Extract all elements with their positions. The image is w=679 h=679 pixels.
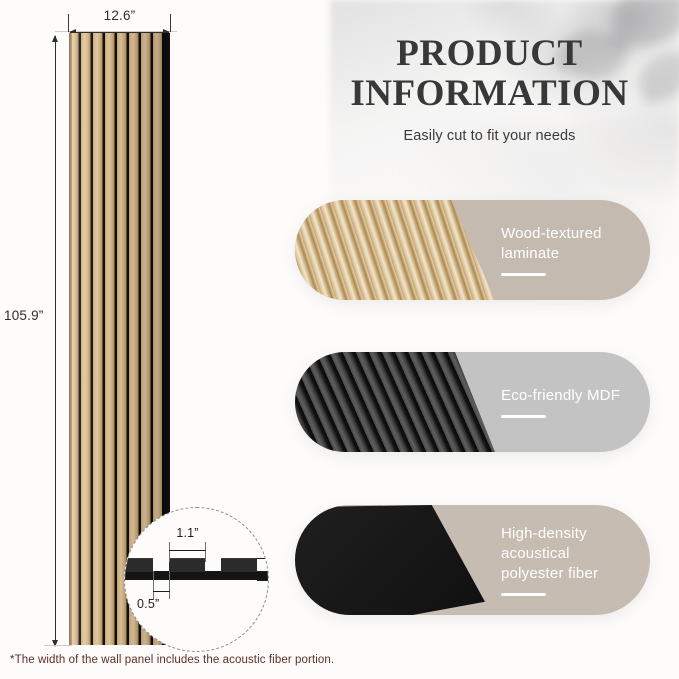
height-dimension-label: 105.9” (4, 308, 43, 323)
footnote-text: *The width of the wall panel includes th… (10, 654, 334, 666)
feature-label-line-2: laminate (501, 244, 650, 264)
cross-section-detail-circle: 1.1” 0.5” 0.5” 0.3” (124, 507, 269, 652)
product-information-infographic: 12.6” 105.9” 1.1” (0, 0, 679, 679)
width-dimension-label: 12.6” (68, 8, 171, 23)
feature-underline-rule (501, 593, 546, 596)
wood-texture-swatch (295, 200, 495, 300)
cross-section-drawing: 1.1” 0.5” 0.5” 0.3” (125, 508, 268, 651)
feature-label-line-1: Eco-friendly MDF (501, 386, 650, 406)
backing-depth-line-bottom (257, 580, 268, 581)
slat-depth-line-top (257, 558, 268, 559)
feature-label-line-1: Wood-textured (501, 224, 650, 244)
bottom-extension-rule (44, 645, 72, 646)
feature-underline-rule (501, 415, 546, 418)
slat-width-tick-right (205, 542, 206, 562)
feature-text-block: High-density acoustical polyester fiber (495, 505, 650, 615)
slat-width-label: 1.1” (169, 526, 206, 540)
cross-section-slat-1 (125, 558, 153, 572)
panel-technical-drawing: 12.6” 105.9” 1.1” (0, 0, 300, 679)
slat-width-line (169, 550, 206, 551)
cross-section-backing (125, 571, 268, 580)
feature-label-line-3: polyester fiber (501, 564, 650, 584)
slat-width-tick-left (169, 542, 170, 562)
feature-capsule-high-density-acoustical-polyester-fiber: High-density acoustical polyester fiber (295, 505, 650, 615)
feature-text-block: Wood-textured laminate (495, 200, 650, 300)
feature-underline-rule (501, 273, 546, 276)
feature-capsule-wood-textured-laminate: Wood-textured laminate (295, 200, 650, 300)
feature-capsule-eco-friendly-mdf: Eco-friendly MDF (295, 352, 650, 452)
panel-left-rail (69, 33, 72, 645)
gap-width-tick-left (153, 571, 154, 599)
feature-label-line-2: acoustical (501, 544, 650, 564)
feature-label-line-1: High-density (501, 524, 650, 544)
gap-width-label: 0.5” (137, 597, 159, 611)
page-subtitle: Easily cut to fit your needs (300, 128, 679, 144)
polyester-fiber-swatch (295, 505, 485, 615)
height-dimension-arrow-line (55, 36, 56, 646)
title-line-2: INFORMATION (300, 74, 679, 114)
feature-text-block: Eco-friendly MDF (495, 352, 650, 452)
gap-width-line (153, 591, 170, 592)
page-title: PRODUCT INFORMATION (300, 34, 679, 114)
title-line-1: PRODUCT (396, 33, 582, 74)
slat-depth-line-bottom (257, 571, 268, 572)
cross-section-slat-3 (221, 558, 257, 572)
information-column: PRODUCT INFORMATION Easily cut to fit yo… (300, 0, 679, 679)
gap-width-tick-right (169, 571, 170, 599)
cross-section-slat-2 (169, 558, 205, 572)
mdf-texture-swatch (295, 352, 495, 452)
